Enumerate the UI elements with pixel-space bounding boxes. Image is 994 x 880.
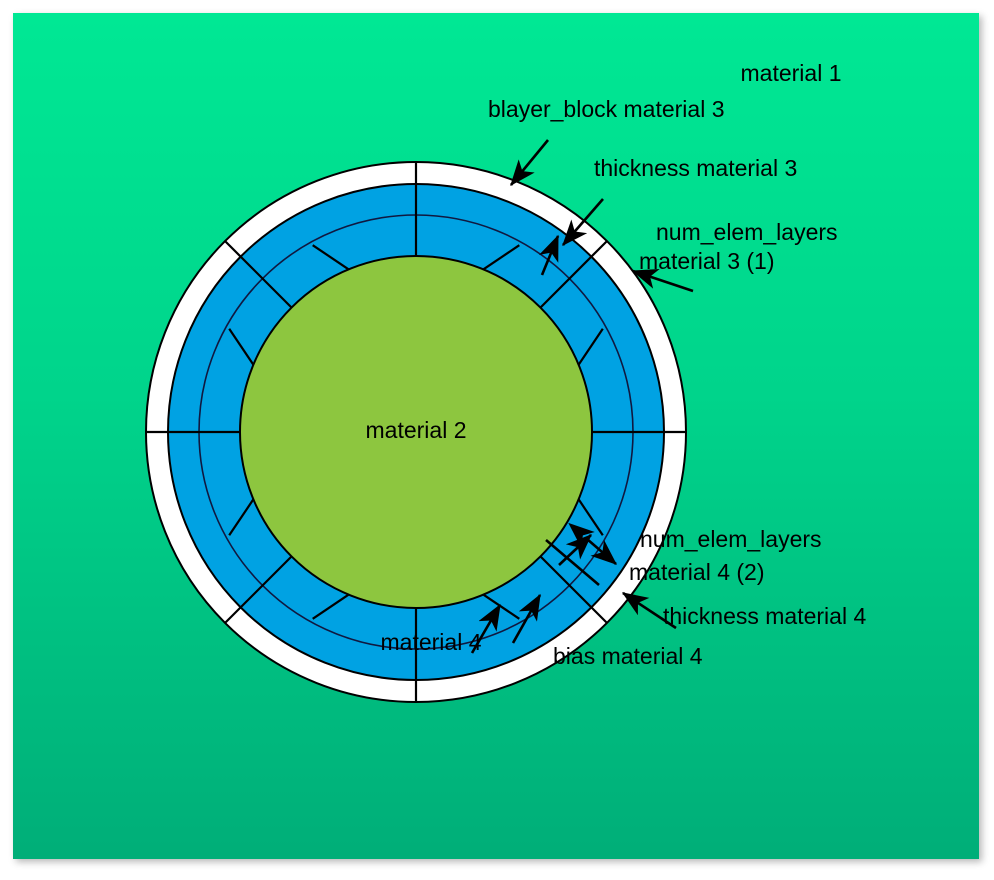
label-blayer-block-material3: blayer_block material 3 (488, 96, 725, 122)
label-num-elem-layers-material3-line2: material 3 (1) (639, 248, 774, 274)
label-num-elem-layers-material4-line1: num_elem_layers (640, 526, 822, 552)
label-material1: material 1 (741, 60, 842, 86)
label-num-elem-layers-material3-line1: num_elem_layers (656, 219, 838, 245)
label-material4-ring: material 4 (381, 629, 482, 655)
label-num-elem-layers-material4-line2: material 4 (2) (629, 559, 764, 585)
label-thickness-material4: thickness material 4 (663, 603, 866, 629)
label-material2: material 2 (366, 417, 467, 443)
label-bias-material4: bias material 4 (553, 643, 703, 669)
annular-mesh-diagram: material 1 blayer_block material 3 thick… (13, 13, 979, 859)
diagram-canvas: material 1 blayer_block material 3 thick… (13, 13, 979, 859)
label-thickness-material3: thickness material 3 (594, 155, 797, 181)
